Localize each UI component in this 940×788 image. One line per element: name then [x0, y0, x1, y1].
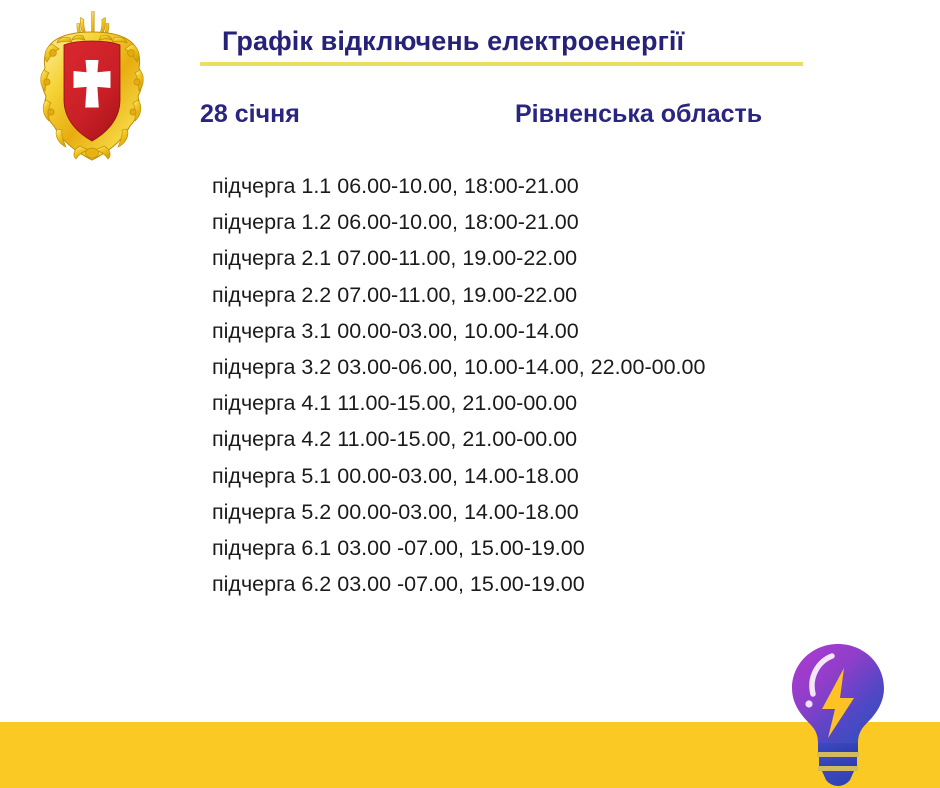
slide-root: Графік відключень електроенергії 28 січн…	[0, 0, 940, 788]
schedule-date: 28 січня	[200, 100, 300, 129]
schedule-row: підчерга 4.1 11.00-15.00, 21.00-00.00	[212, 385, 912, 421]
schedule-row: підчерга 1.1 06.00-10.00, 18:00-21.00	[212, 168, 912, 204]
schedule-row: підчерга 3.2 03.00-06.00, 10.00-14.00, 2…	[212, 349, 912, 385]
page-title: Графік відключень електроенергії	[200, 24, 900, 58]
subheader: 28 січня Рівненська область	[200, 100, 900, 140]
region-label: Рівненська область	[515, 100, 762, 129]
header: Графік відключень електроенергії	[200, 24, 900, 66]
schedule-row: підчерга 2.1 07.00-11.00, 19.00-22.00	[212, 240, 912, 276]
schedule-row: підчерга 5.1 00.00-03.00, 14.00-18.00	[212, 458, 912, 494]
schedule-list: підчерга 1.1 06.00-10.00, 18:00-21.00 пі…	[212, 168, 912, 602]
schedule-row: підчерга 5.2 00.00-03.00, 14.00-18.00	[212, 494, 912, 530]
light-bulb-icon	[778, 638, 898, 788]
schedule-row: підчерга 6.2 03.00 -07.00, 15.00-19.00	[212, 566, 912, 602]
title-underline	[200, 62, 803, 66]
schedule-row: підчерга 1.2 06.00-10.00, 18:00-21.00	[212, 204, 912, 240]
schedule-row: підчерга 6.1 03.00 -07.00, 15.00-19.00	[212, 530, 912, 566]
rivne-oblast-coat-of-arms-icon	[28, 8, 156, 166]
schedule-row: підчерга 4.2 11.00-15.00, 21.00-00.00	[212, 421, 912, 457]
schedule-row: підчерга 3.1 00.00-03.00, 10.00-14.00	[212, 313, 912, 349]
schedule-row: підчерга 2.2 07.00-11.00, 19.00-22.00	[212, 277, 912, 313]
